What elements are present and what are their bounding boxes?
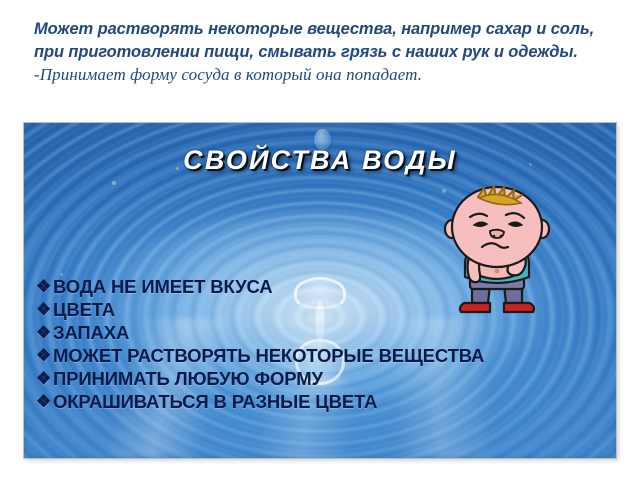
diamond-bullet-icon: ❖ <box>36 321 53 344</box>
list-item: ❖ ЦВЕТА <box>36 298 484 321</box>
diamond-bullet-icon: ❖ <box>36 298 53 321</box>
caption-lead-text: Может растворять некоторые вещества, нап… <box>34 18 610 63</box>
list-item: ❖ ВОДА НЕ ИМЕЕТ ВКУСА <box>36 275 484 298</box>
caption-sub-text: -Принимает форму сосуда в который она по… <box>34 64 610 86</box>
slide-canvas: Может растворять некоторые вещества, нап… <box>0 0 640 480</box>
list-item-label: ОКРАШИВАТЬСЯ В РАЗНЫЕ ЦВЕТА <box>53 390 377 413</box>
list-item: ❖ МОЖЕТ РАСТВОРЯТЬ НЕКОТОРЫЕ ВЕЩЕСТВА <box>36 344 484 367</box>
list-item-label: ЦВЕТА <box>53 298 115 321</box>
list-item-label: ПРИНИМАТЬ ЛЮБУЮ ФОРМУ <box>53 367 323 390</box>
list-item-label: ВОДА НЕ ИМЕЕТ ВКУСА <box>53 275 272 298</box>
water-properties-list: ❖ ВОДА НЕ ИМЕЕТ ВКУСА ❖ ЦВЕТА ❖ ЗАПАХА ❖… <box>36 275 484 413</box>
picture-title: СВОЙСТВА ВОДЫ <box>24 145 616 176</box>
diamond-bullet-icon: ❖ <box>36 367 53 390</box>
diamond-bullet-icon: ❖ <box>36 275 53 298</box>
list-item: ❖ ЗАПАХА <box>36 321 484 344</box>
list-item: ❖ ОКРАШИВАТЬСЯ В РАЗНЫЕ ЦВЕТА <box>36 390 484 413</box>
list-item-label: МОЖЕТ РАСТВОРЯТЬ НЕКОТОРЫЕ ВЕЩЕСТВА <box>53 344 484 367</box>
list-item-label: ЗАПАХА <box>53 321 129 344</box>
diamond-bullet-icon: ❖ <box>36 344 53 367</box>
list-item: ❖ ПРИНИМАТЬ ЛЮБУЮ ФОРМУ <box>36 367 484 390</box>
water-speck <box>112 181 116 185</box>
diamond-bullet-icon: ❖ <box>36 390 53 413</box>
caption-block: Может растворять некоторые вещества, нап… <box>34 18 610 86</box>
water-properties-image: СВОЙСТВА ВОДЫ <box>24 123 616 458</box>
